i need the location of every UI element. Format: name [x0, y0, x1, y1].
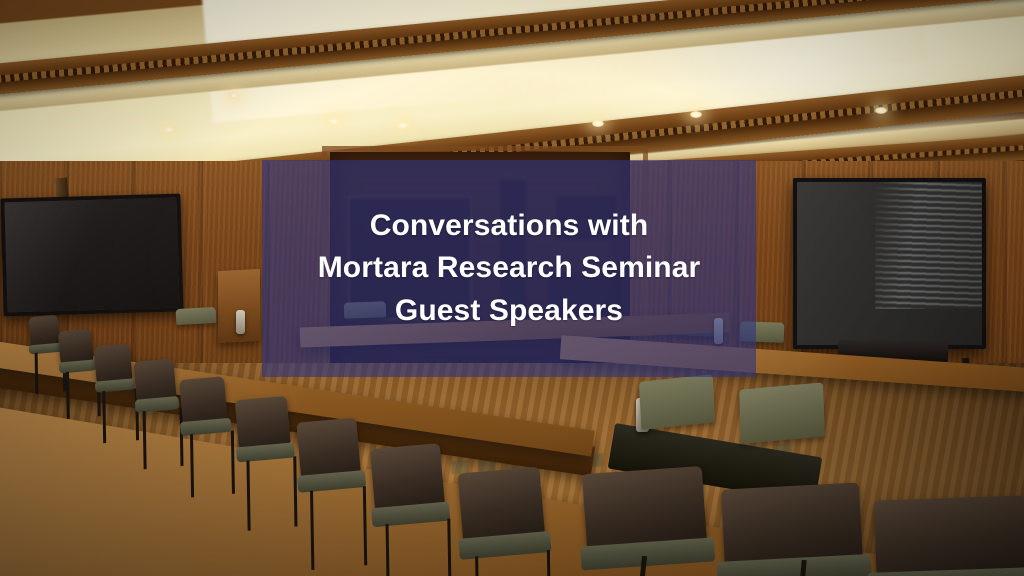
chair	[639, 374, 715, 430]
chair	[457, 467, 548, 576]
chair-far	[176, 307, 217, 325]
chair	[296, 418, 363, 511]
chair	[94, 344, 135, 405]
page-title: Conversations with Mortara Research Semi…	[318, 205, 701, 333]
chair	[133, 358, 178, 425]
chair	[739, 382, 825, 443]
downlight-icon	[592, 120, 604, 127]
chair	[235, 396, 294, 478]
table-microphone	[236, 310, 245, 334]
downlight-icon	[328, 118, 340, 125]
display-right	[793, 178, 986, 349]
downlight-icon	[228, 92, 240, 99]
downlight-icon	[397, 122, 409, 129]
banner-image: Conversations with Mortara Research Semi…	[0, 0, 1024, 576]
chair	[179, 376, 230, 450]
chair	[28, 315, 62, 363]
chair-foreground	[721, 482, 865, 576]
chair	[370, 443, 448, 547]
chair-foreground	[874, 495, 1024, 576]
downlight-icon	[875, 107, 887, 114]
title-line-3: Guest Speakers	[395, 294, 623, 327]
downlight-icon	[690, 111, 702, 118]
title-overlay-panel: Conversations with Mortara Research Semi…	[262, 160, 756, 377]
title-line-2: Mortara Research Seminar	[318, 251, 701, 284]
display-left	[0, 194, 183, 317]
downlight-icon	[163, 126, 175, 133]
chair	[58, 329, 95, 384]
title-line-1: Conversations with	[370, 209, 649, 242]
